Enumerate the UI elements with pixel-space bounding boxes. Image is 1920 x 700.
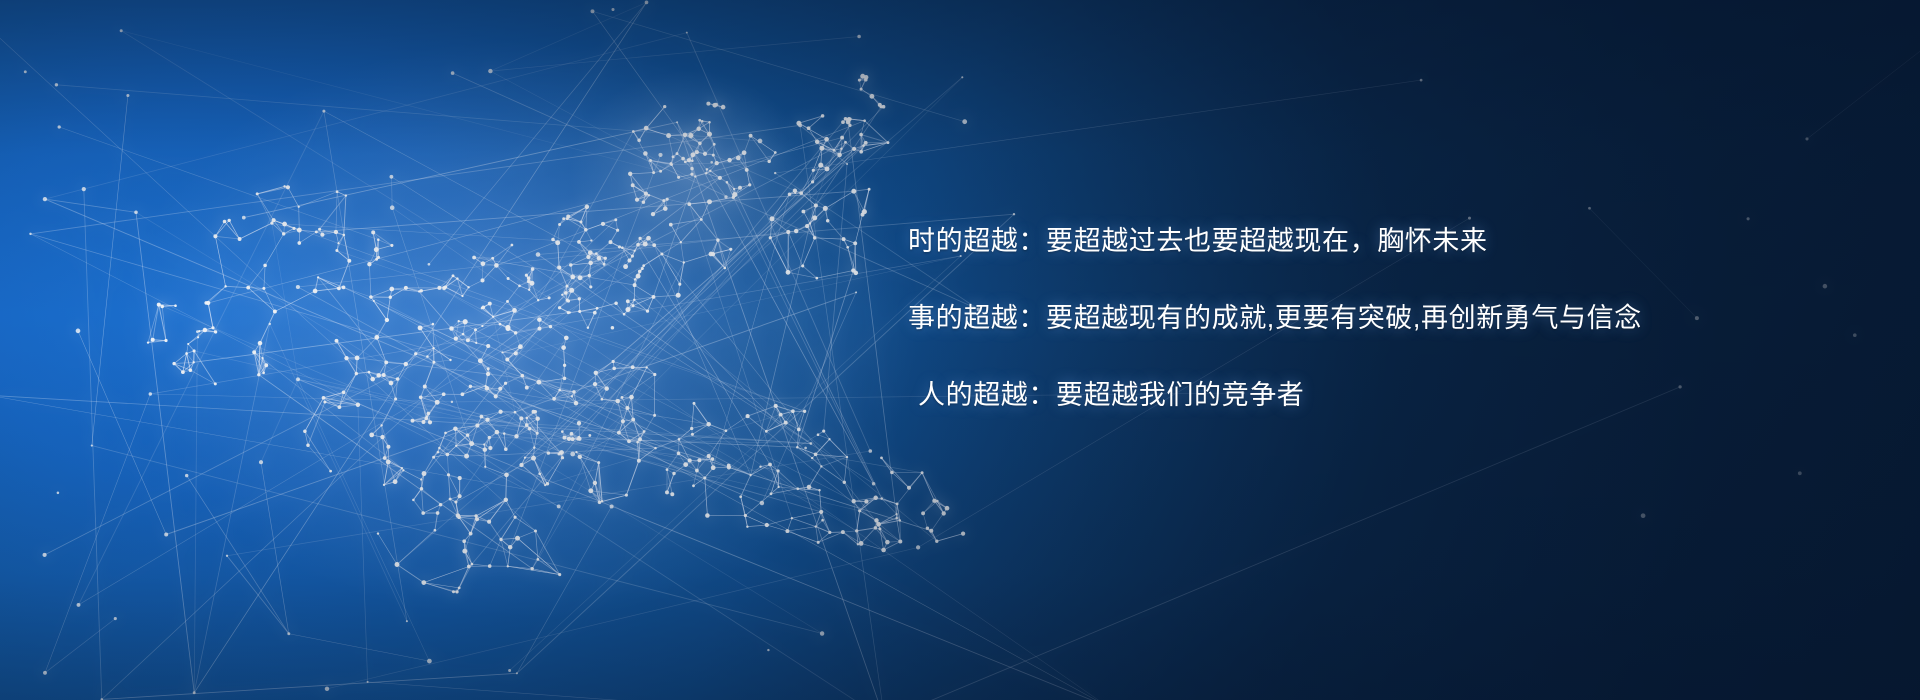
- slogan-line-1: 时的超越：要超越过去也要超越现在，胸怀未来: [908, 228, 1808, 255]
- slogan-line-2: 事的超越：要超越现有的成就,更要有突破,再创新勇气与信念: [908, 305, 1808, 332]
- banner-stage: 时的超越：要超越过去也要超越现在，胸怀未来 事的超越：要超越现有的成就,更要有突…: [0, 0, 1920, 700]
- slogan-text-block: 时的超越：要超越过去也要超越现在，胸怀未来 事的超越：要超越现有的成就,更要有突…: [908, 228, 1808, 409]
- slogan-line-3: 人的超越：要超越我们的竞争者: [918, 382, 1808, 409]
